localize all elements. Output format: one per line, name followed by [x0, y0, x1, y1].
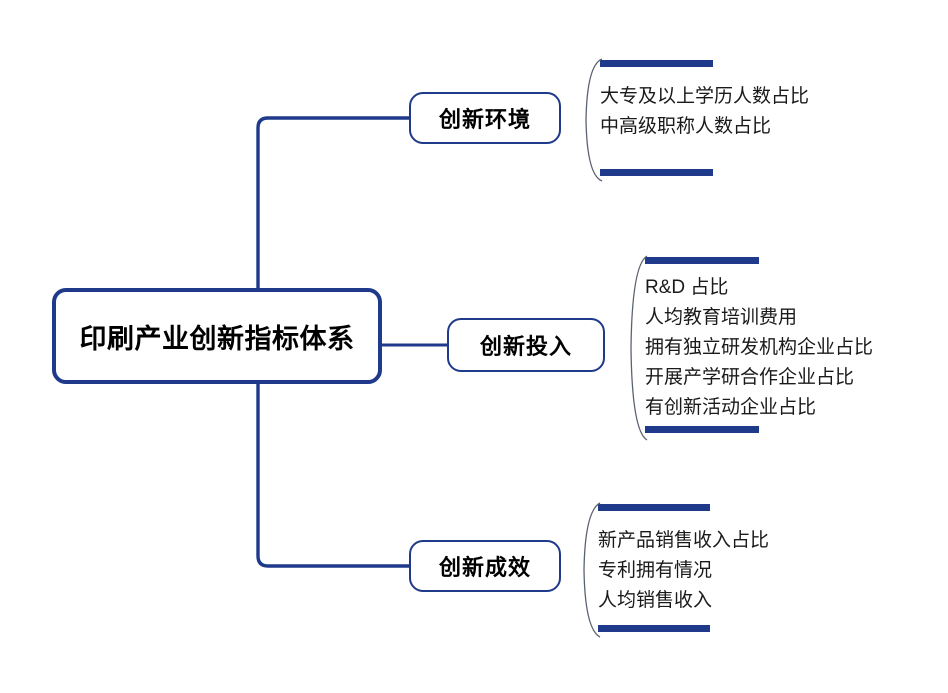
leaf-item-list: R&D 占比 人均教育培训费用 拥有独立研发机构企业占比 开展产学研合作企业占比…	[645, 273, 873, 423]
leaf-group-top-bar	[598, 504, 710, 511]
leaf-item-list: 新产品销售收入占比 专利拥有情况 人均销售收入	[598, 526, 769, 616]
leaf-group-innovation-results: 新产品销售收入占比 专利拥有情况 人均销售收入	[581, 500, 881, 640]
connector-to-branch-0	[258, 118, 409, 288]
branch-node-innovation-investment[interactable]: 创新投入	[447, 318, 605, 372]
leaf-item: 有创新活动企业占比	[645, 393, 873, 423]
leaf-item: R&D 占比	[645, 273, 873, 303]
branch-node-label: 创新环境	[439, 102, 531, 134]
leaf-group-top-bar	[600, 60, 713, 67]
leaf-group-top-bar	[645, 257, 759, 264]
mind-map-diagram: 印刷产业创新指标体系 创新环境 创新投入 创新成效 大专及以上学历人数占比 中高…	[0, 0, 948, 693]
leaf-group-bottom-bar	[645, 426, 759, 433]
leaf-item-list: 大专及以上学历人数占比 中高级职称人数占比	[600, 82, 809, 142]
leaf-group-bottom-bar	[600, 169, 713, 176]
root-node-label: 印刷产业创新指标体系	[80, 317, 355, 356]
leaf-item: 中高级职称人数占比	[600, 112, 809, 142]
leaf-group-innovation-investment: R&D 占比 人均教育培训费用 拥有独立研发机构企业占比 开展产学研合作企业占比…	[628, 253, 928, 443]
leaf-group-innovation-environment: 大专及以上学历人数占比 中高级职称人数占比	[583, 55, 883, 185]
connector-to-branch-2	[258, 384, 409, 566]
leaf-item: 人均销售收入	[598, 586, 769, 616]
leaf-item: 人均教育培训费用	[645, 303, 873, 333]
leaf-item: 拥有独立研发机构企业占比	[645, 333, 873, 363]
branch-node-label: 创新投入	[480, 329, 572, 361]
branch-node-innovation-results[interactable]: 创新成效	[409, 540, 561, 592]
leaf-item: 开展产学研合作企业占比	[645, 363, 873, 393]
leaf-item: 专利拥有情况	[598, 556, 769, 586]
branch-node-innovation-environment[interactable]: 创新环境	[409, 92, 561, 144]
leaf-group-bottom-bar	[598, 625, 710, 632]
leaf-item: 大专及以上学历人数占比	[600, 82, 809, 112]
branch-node-label: 创新成效	[439, 550, 531, 582]
leaf-item: 新产品销售收入占比	[598, 526, 769, 556]
root-node[interactable]: 印刷产业创新指标体系	[52, 288, 382, 384]
